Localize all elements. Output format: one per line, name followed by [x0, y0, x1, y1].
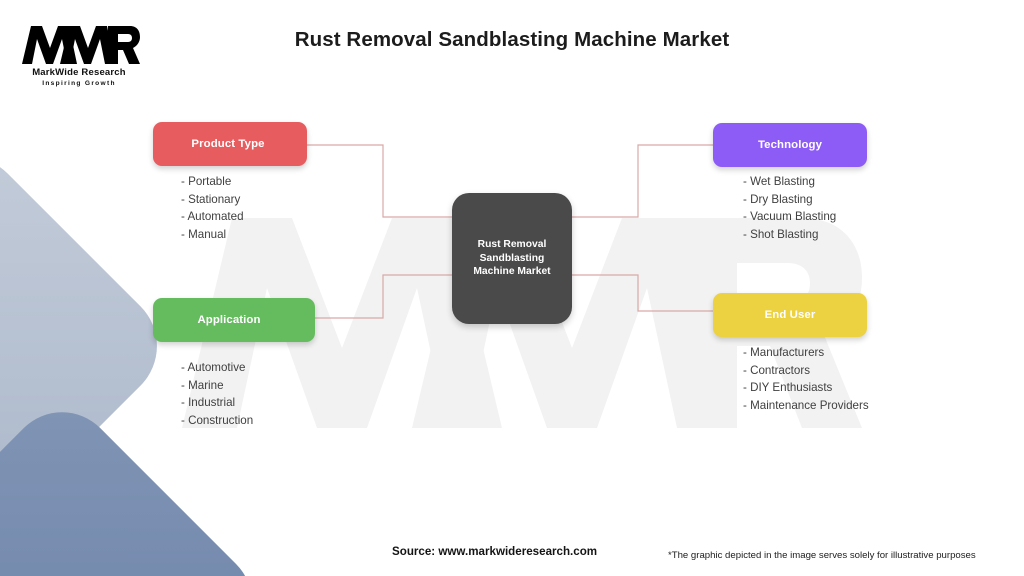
list-item: - Wet Blasting [743, 173, 836, 191]
brand-name: MarkWide Research [18, 67, 140, 78]
infographic-canvas: MarkWide Research Inspiring Growth Rust … [0, 0, 1024, 576]
list-item: - Automated [181, 208, 244, 226]
list-item: - Construction [181, 412, 253, 430]
branch-items-end-user: - Manufacturers - Contractors - DIY Enth… [743, 344, 869, 414]
list-item: - Vacuum Blasting [743, 208, 836, 226]
branch-items-technology: - Wet Blasting - Dry Blasting - Vacuum B… [743, 173, 836, 243]
list-item: - Manufacturers [743, 344, 869, 362]
center-node[interactable]: Rust Removal Sandblasting Machine Market [452, 193, 572, 324]
list-item: - DIY Enthusiasts [743, 379, 869, 397]
branch-label-application: Application [197, 314, 260, 326]
list-item: - Industrial [181, 394, 253, 412]
branch-items-application: - Automotive - Marine - Industrial - Con… [181, 359, 253, 429]
list-item: - Automotive [181, 359, 253, 377]
branch-label-end-user: End User [765, 309, 816, 321]
branch-label-product-type: Product Type [191, 138, 264, 150]
footer-disclaimer: *The graphic depicted in the image serve… [668, 550, 976, 561]
list-item: - Contractors [743, 362, 869, 380]
list-item: - Shot Blasting [743, 226, 836, 244]
list-item: - Portable [181, 173, 244, 191]
list-item: - Dry Blasting [743, 191, 836, 209]
branch-pill-product-type[interactable]: Product Type [153, 122, 307, 166]
branch-label-technology: Technology [758, 139, 822, 151]
page-title: Rust Removal Sandblasting Machine Market [0, 28, 1024, 52]
branch-items-product-type: - Portable - Stationary - Automated - Ma… [181, 173, 244, 243]
list-item: - Stationary [181, 191, 244, 209]
center-node-label: Rust Removal Sandblasting Machine Market [473, 238, 550, 279]
list-item: - Manual [181, 226, 244, 244]
footer-source: Source: www.markwideresearch.com [392, 545, 597, 558]
decorative-shape-light [0, 134, 180, 558]
branch-pill-application[interactable]: Application [153, 298, 315, 342]
list-item: - Marine [181, 377, 253, 395]
list-item: - Maintenance Providers [743, 397, 869, 415]
branch-pill-end-user[interactable]: End User [713, 293, 867, 337]
brand-tagline: Inspiring Growth [18, 80, 140, 87]
branch-pill-technology[interactable]: Technology [713, 123, 867, 167]
